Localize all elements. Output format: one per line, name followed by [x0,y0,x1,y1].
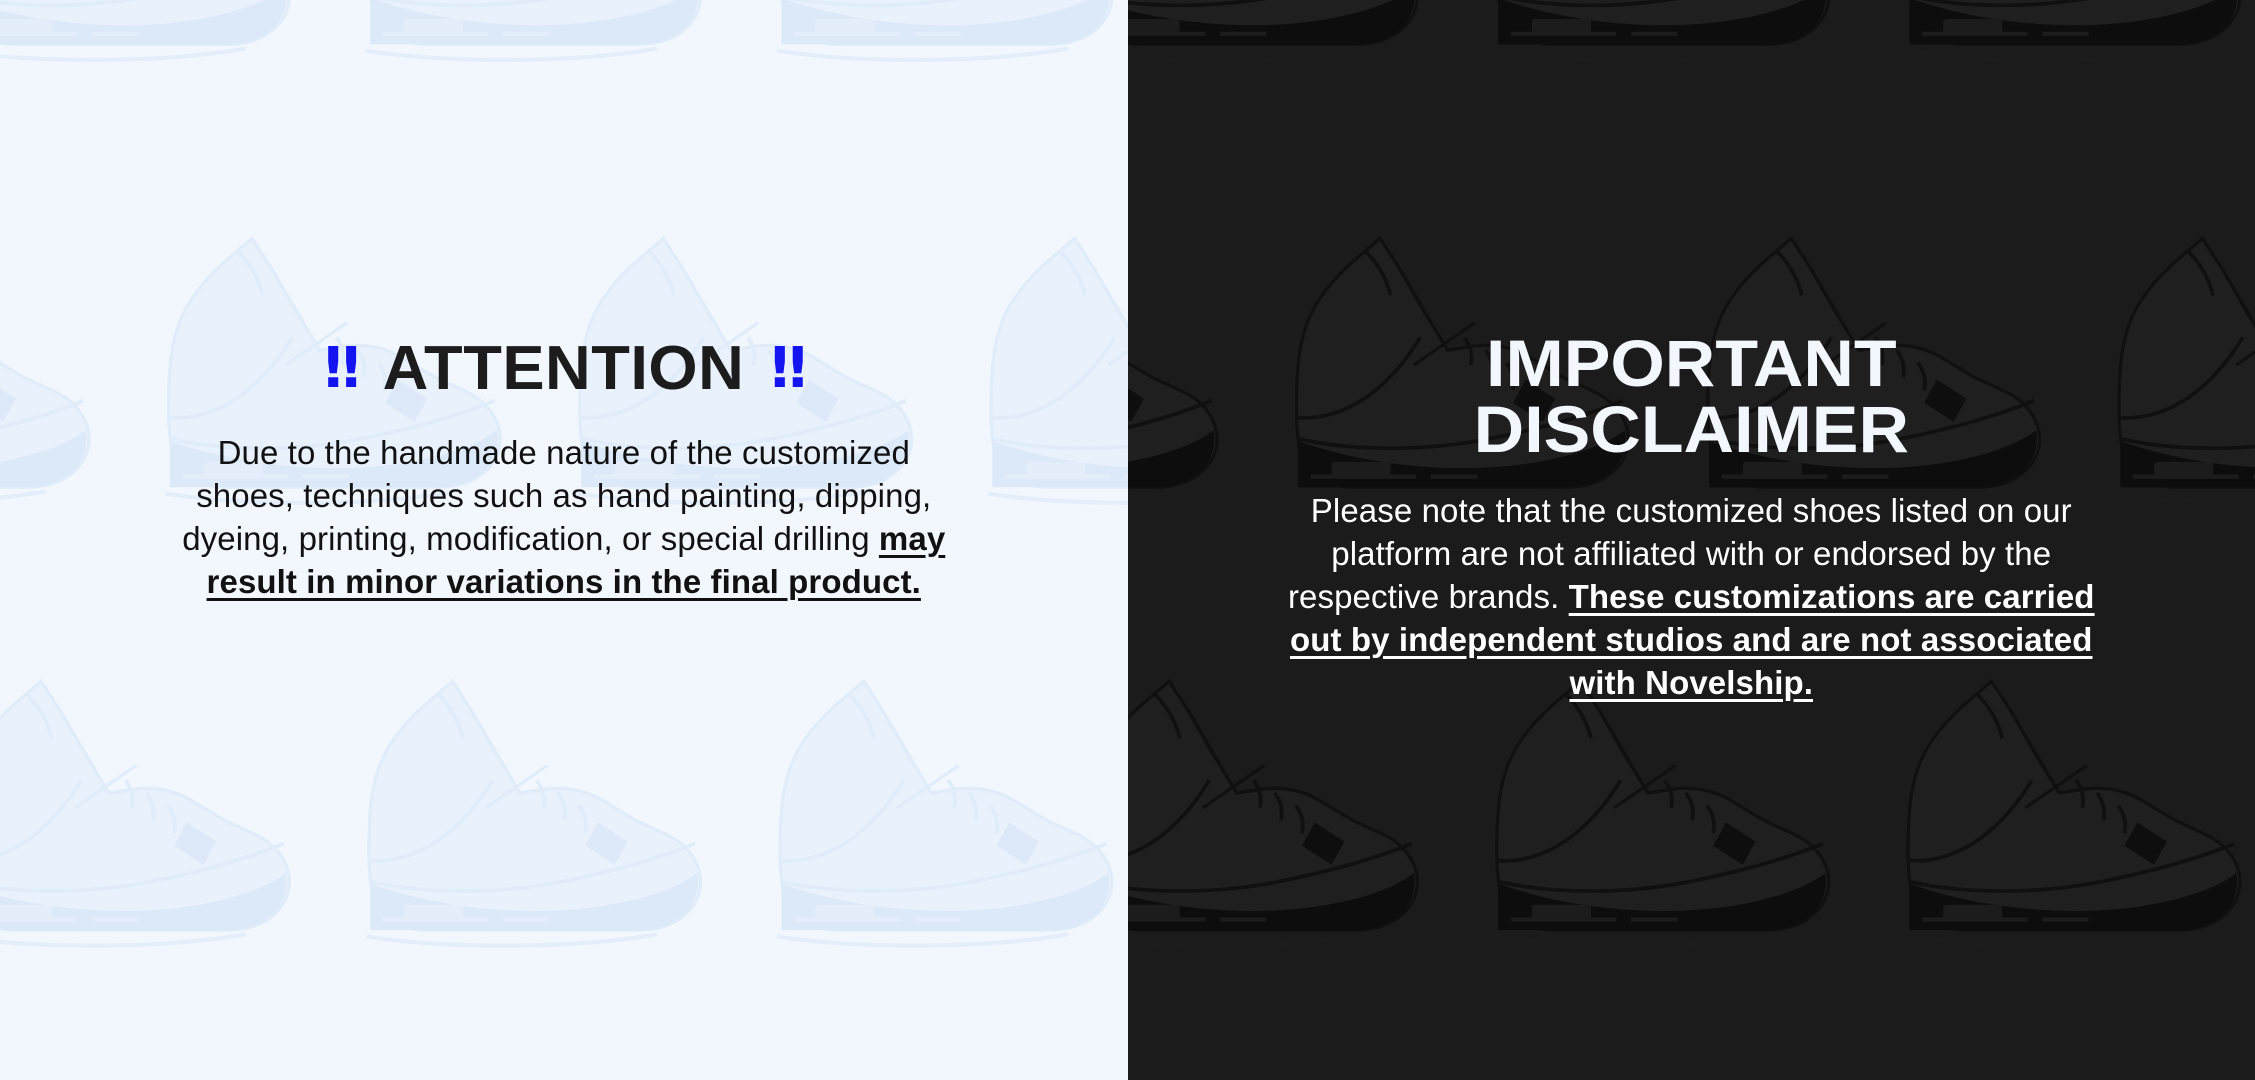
double-exclamation-left-icon: ‼ [325,341,357,397]
attention-heading: ‼ ATTENTION ‼ [325,338,803,400]
disclaimer-heading: IMPORTANT DISCLAIMER [1474,330,1909,462]
attention-panel: ‼ ATTENTION ‼ Due to the handmade nature… [0,0,1128,1080]
disclaimer-body: Please note that the customized shoes li… [1286,490,2096,704]
attention-body-normal: Due to the handmade nature of the custom… [182,434,931,557]
disclaimer-heading-line-1: IMPORTANT [1474,330,1909,396]
disclaimer-heading-line-2: DISCLAIMER [1474,396,1909,462]
attention-body: Due to the handmade nature of the custom… [169,432,959,604]
attention-content: ‼ ATTENTION ‼ Due to the handmade nature… [0,0,1128,604]
attention-heading-label: ATTENTION [383,338,745,400]
disclaimer-content: IMPORTANT DISCLAIMER Please note that th… [1128,0,2255,704]
disclaimer-banner: ‼ ATTENTION ‼ Due to the handmade nature… [0,0,2255,1080]
disclaimer-panel: IMPORTANT DISCLAIMER Please note that th… [1128,0,2255,1080]
double-exclamation-right-icon: ‼ [771,341,803,397]
